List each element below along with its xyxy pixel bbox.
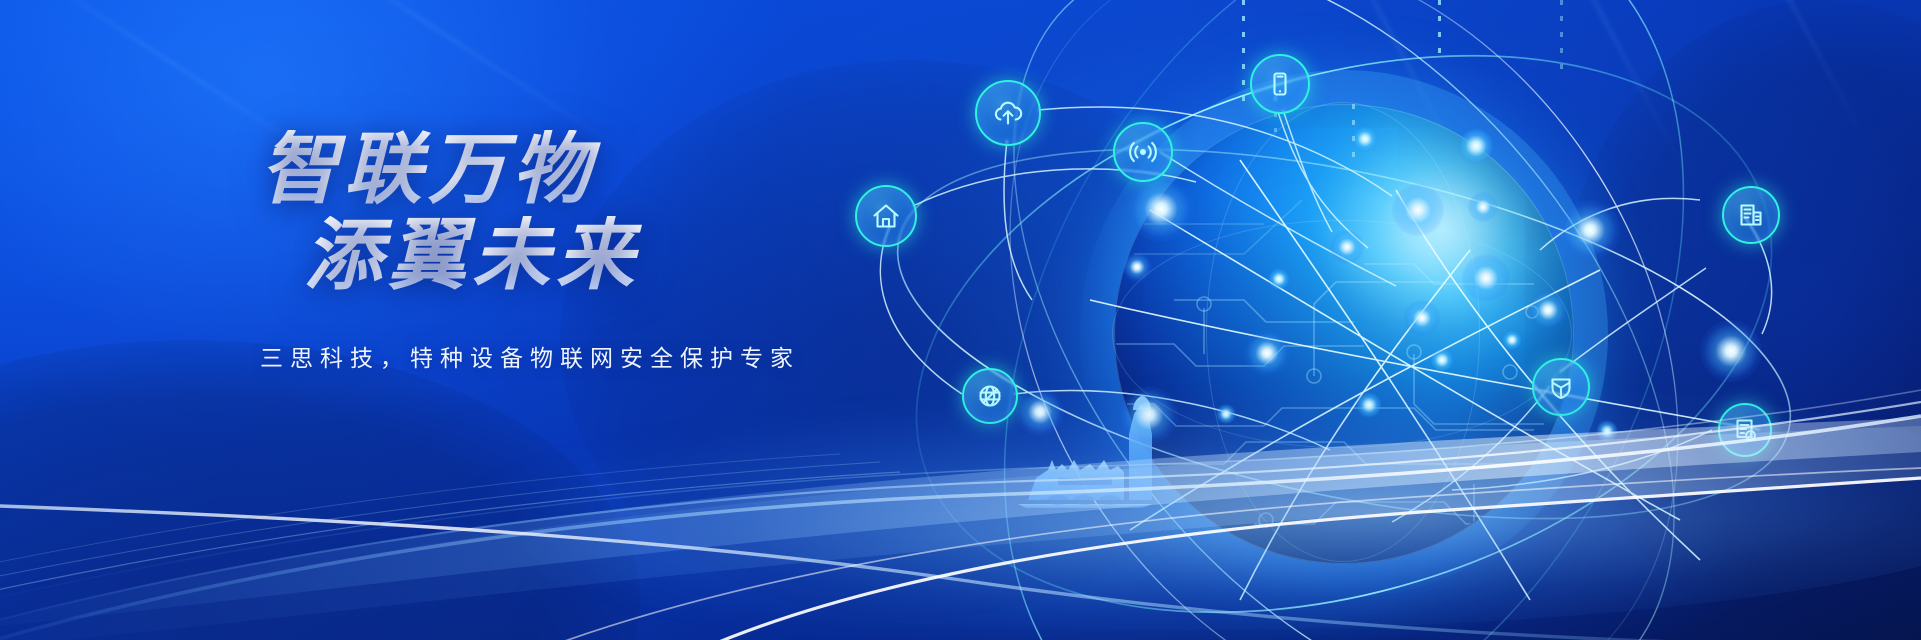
smartphone-icon[interactable] bbox=[1250, 54, 1310, 114]
data-stream-dots bbox=[1560, 0, 1563, 70]
data-stream-dots bbox=[1438, 0, 1441, 58]
data-stream-dots bbox=[1242, 0, 1245, 104]
headline-block: 智联万物 添翼未来 三思科技，特种设备物联网安全保护专家 bbox=[252, 130, 1012, 373]
background-glow-right bbox=[1560, 0, 1921, 640]
report-icon[interactable] bbox=[1718, 403, 1772, 457]
banner-subtitle: 三思科技，特种设备物联网安全保护专家 bbox=[260, 339, 1012, 373]
globe-glyph bbox=[975, 381, 1005, 411]
wifi-signal-icon[interactable] bbox=[1113, 122, 1173, 182]
building-icon[interactable] bbox=[1722, 186, 1780, 244]
smartphone-glyph bbox=[1266, 70, 1294, 98]
shield-icon[interactable] bbox=[1532, 358, 1590, 416]
building-glyph bbox=[1736, 200, 1766, 230]
globe-icon[interactable] bbox=[962, 368, 1018, 424]
wifi-signal-glyph bbox=[1127, 136, 1159, 168]
cloud-upload-glyph bbox=[991, 96, 1025, 130]
headline-line-1: 智联万物 bbox=[260, 130, 1012, 210]
light-ray bbox=[1694, 0, 1866, 141]
headline-line-2: 添翼未来 bbox=[304, 216, 1012, 296]
background-glow-bottom-left bbox=[0, 340, 640, 640]
hero-banner: 智联万物 添翼未来 三思科技，特种设备物联网安全保护专家 bbox=[0, 0, 1921, 640]
node-spark bbox=[1596, 420, 1618, 442]
ship-silhouette bbox=[1000, 368, 1210, 508]
node-spark bbox=[1700, 320, 1762, 382]
shield-glyph bbox=[1546, 372, 1576, 402]
report-glyph bbox=[1731, 416, 1759, 444]
bottom-light-streaks bbox=[0, 330, 1921, 640]
